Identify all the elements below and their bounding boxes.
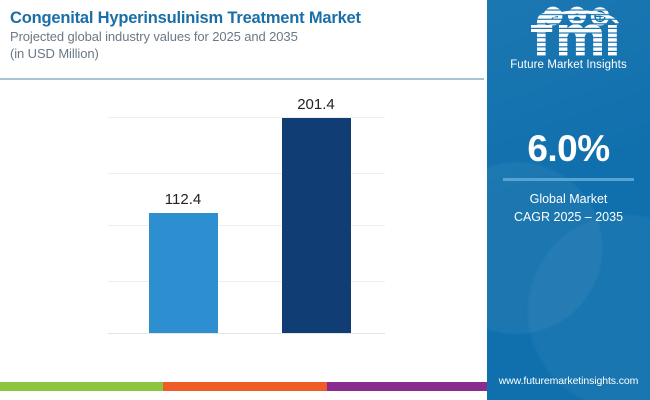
- bar-value-label: 201.4: [297, 96, 335, 113]
- main-content-panel: Congenital Hyperinsulinism Treatment Mar…: [0, 0, 487, 391]
- page-title: Congenital Hyperinsulinism Treatment Mar…: [10, 8, 477, 28]
- website-url[interactable]: www.futuremarketinsights.com: [487, 375, 650, 387]
- bar-group-2025[interactable]: 112.4: [148, 213, 218, 333]
- bar-2025[interactable]: [149, 213, 218, 333]
- brand-sidebar: Future Market Insights 6.0% Global Marke…: [487, 0, 650, 400]
- person-presenting-icon: [568, 7, 586, 25]
- cagr-caption-line-1: Global Market: [487, 190, 650, 208]
- brand-tagline: Future Market Insights: [487, 59, 650, 71]
- strip-segment-orange: [163, 382, 327, 391]
- bar-group-2035[interactable]: 201.4: [281, 118, 351, 333]
- bar-chart: 112.4 201.4 2025 2035: [0, 79, 487, 391]
- axis-baseline: [108, 333, 385, 334]
- brand-logo[interactable]: Future Market Insights: [487, 6, 650, 71]
- cagr-block: 6.0% Global Market CAGR 2025 – 2035: [487, 128, 650, 226]
- subtitle-line-1: Projected global industry values for 202…: [10, 28, 477, 45]
- cagr-caption-line-2: CAGR 2025 – 2035: [487, 208, 650, 226]
- bar-value-label: 112.4: [165, 191, 201, 208]
- fmi-logo-icon: [507, 6, 631, 58]
- bar-2035[interactable]: [282, 118, 351, 333]
- cagr-divider: [503, 178, 634, 181]
- bottom-color-strip: [0, 382, 487, 391]
- strip-segment-purple: [327, 382, 487, 391]
- cagr-value: 6.0%: [487, 128, 650, 170]
- strip-segment-green: [0, 382, 163, 391]
- infographic-root: Congenital Hyperinsulinism Treatment Mar…: [0, 0, 650, 400]
- header: Congenital Hyperinsulinism Treatment Mar…: [0, 0, 487, 79]
- plot-area: 112.4 201.4: [108, 115, 385, 334]
- subtitle-line-2: (in USD Million): [10, 45, 477, 62]
